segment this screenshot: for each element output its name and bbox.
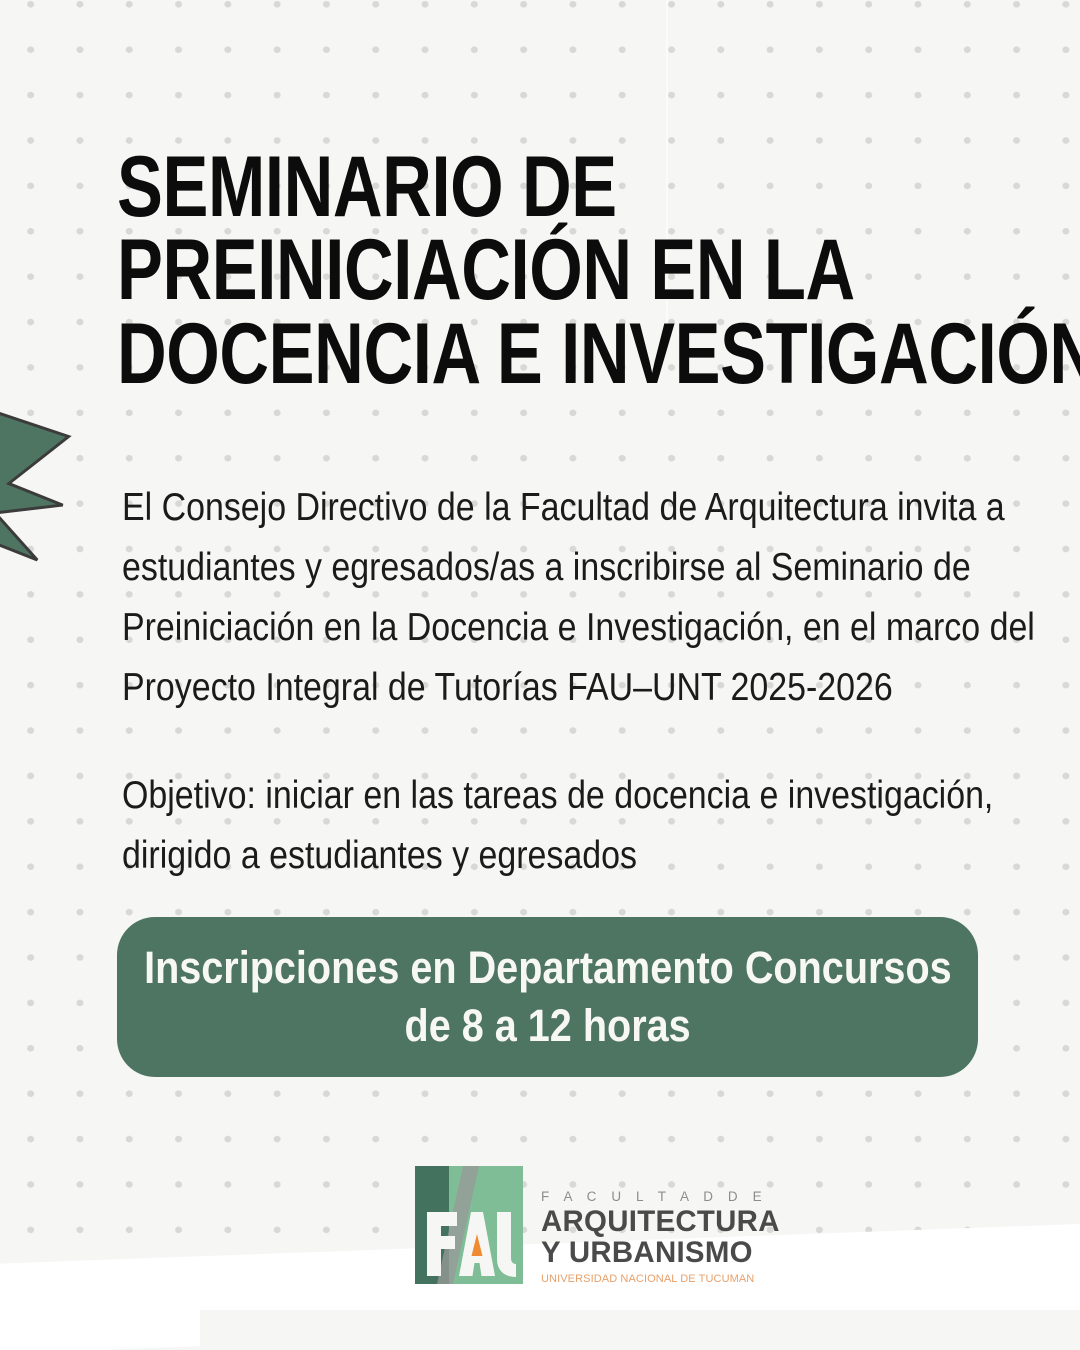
page-title: SEMINARIO DE PREINICIACIÓN EN LA DOCENCI… bbox=[117, 146, 837, 396]
logo-urbanismo: Y URBANISMO bbox=[541, 1238, 780, 1268]
paragraph1-line-2: estudiantes y egresados/as a inscribirse… bbox=[122, 538, 844, 598]
fau-mark-icon bbox=[413, 1164, 525, 1286]
title-line-2: PREINICIACIÓN EN LA bbox=[117, 229, 837, 312]
logo-arquitectura: ARQUITECTURA bbox=[541, 1207, 780, 1237]
paragraph-invitation: El Consejo Directivo de la Facultad de A… bbox=[122, 478, 844, 718]
paragraph2-line-2: dirigido a estudiantes y egresados bbox=[122, 826, 844, 886]
poster-canvas: SEMINARIO DE PREINICIACIÓN EN LA DOCENCI… bbox=[0, 0, 1080, 1350]
fau-logo-mark bbox=[413, 1164, 525, 1286]
paragraph1-line-1: El Consejo Directivo de la Facultad de A… bbox=[122, 478, 844, 538]
logo-universidad: UNIVERSIDAD NACIONAL DE TUCUMAN bbox=[541, 1274, 785, 1285]
bottom-wedge-mask bbox=[200, 1310, 1080, 1350]
starburst-decoration bbox=[0, 411, 100, 607]
paragraph2-line-1: Objetivo: iniciar en las tareas de docen… bbox=[122, 766, 844, 826]
banner-line-1: Inscripciones en Departamento Concursos bbox=[144, 939, 952, 997]
logo-facultad-de: F A C U L T A D D E bbox=[541, 1190, 785, 1204]
fau-logo: F A C U L T A D D E ARQUITECTURA Y URBAN… bbox=[413, 1164, 703, 1286]
title-line-1: SEMINARIO DE bbox=[117, 146, 837, 229]
fau-logo-wordmark: F A C U L T A D D E ARQUITECTURA Y URBAN… bbox=[541, 1164, 785, 1285]
paragraph-objective: Objetivo: iniciar en las tareas de docen… bbox=[122, 766, 844, 886]
paragraph1-line-3: Preiniciación en la Docencia e Investiga… bbox=[122, 598, 844, 658]
paragraph1-line-4: Proyecto Integral de Tutorías FAU–UNT 20… bbox=[122, 658, 844, 718]
banner-line-2: de 8 a 12 horas bbox=[404, 997, 690, 1055]
body-text-block: El Consejo Directivo de la Facultad de A… bbox=[122, 478, 952, 886]
inscription-banner: Inscripciones en Departamento Concursos … bbox=[117, 917, 978, 1077]
title-line-3: DOCENCIA E INVESTIGACIÓN bbox=[117, 313, 837, 396]
